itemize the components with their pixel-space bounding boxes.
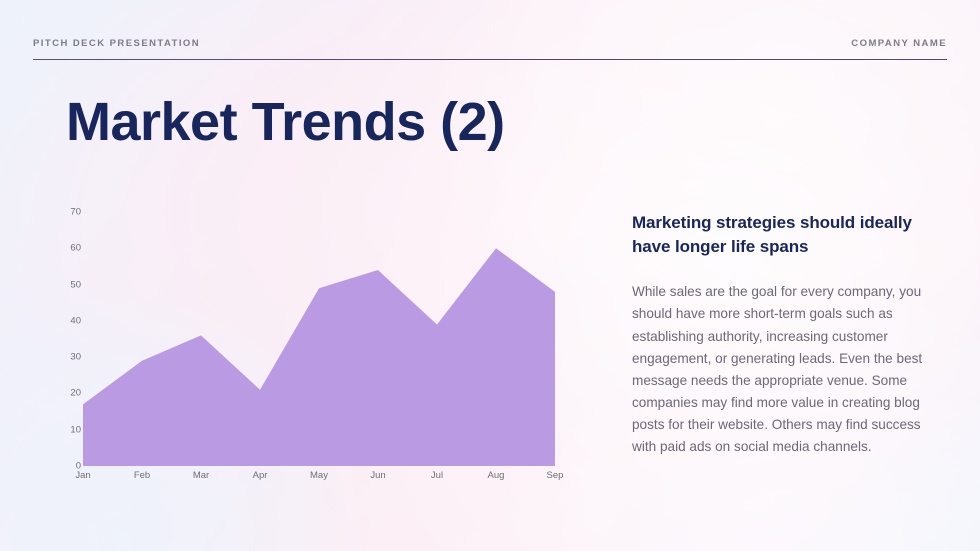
chart-plot-area	[55, 206, 585, 491]
area-chart: 010203040506070 JanFebMarAprMayJunJulAug…	[55, 206, 585, 491]
header-right-label: COMPANY NAME	[851, 38, 947, 49]
text-column-heading: Marketing strategies should ideally have…	[632, 211, 937, 259]
chart-x-tick-label: Feb	[134, 470, 150, 481]
chart-x-tick-label: Sep	[547, 470, 564, 481]
chart-x-tick-label: Jun	[370, 470, 385, 481]
chart-x-tick-label: May	[310, 470, 328, 481]
chart-x-tick-label: Jul	[431, 470, 443, 481]
chart-x-axis: JanFebMarAprMayJunJulAugSep	[83, 470, 585, 488]
text-column-body: While sales are the goal for every compa…	[632, 281, 937, 458]
chart-x-tick-label: Mar	[193, 470, 209, 481]
chart-x-tick-label: Apr	[253, 470, 268, 481]
chart-x-tick-label: Aug	[488, 470, 505, 481]
text-column: Marketing strategies should ideally have…	[632, 211, 937, 459]
header-divider	[33, 59, 947, 60]
page-title: Market Trends (2)	[66, 94, 505, 151]
chart-x-tick-label: Jan	[75, 470, 90, 481]
header-left-label: PITCH DECK PRESENTATION	[33, 38, 200, 49]
chart-area-series	[83, 248, 555, 466]
slide: PITCH DECK PRESENTATION COMPANY NAME Mar…	[0, 0, 980, 551]
